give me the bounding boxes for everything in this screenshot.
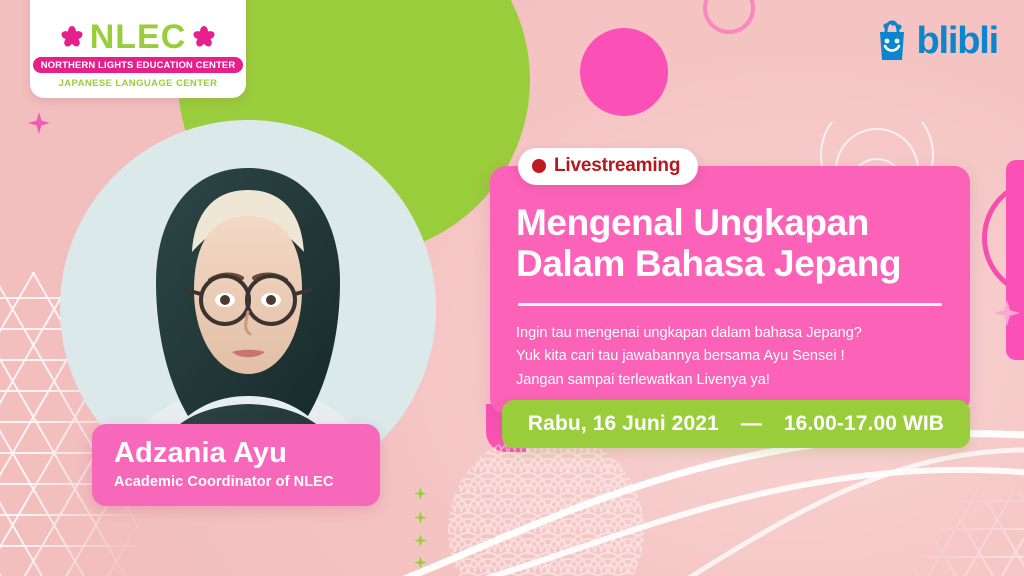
event-title: Mengenal Ungkapan Dalam Bahasa Jepang — [516, 202, 944, 285]
speaker-role: Academic Coordinator of NLEC — [114, 474, 358, 490]
asanoha-pattern-right — [904, 492, 1024, 576]
speaker-name: Adzania Ayu — [114, 438, 358, 468]
nlec-logo-card: NLEC NORTHERN LIGHTS EDUCATION CENTER JA… — [30, 0, 246, 98]
nlec-full-name-band: NORTHERN LIGHTS EDUCATION CENTER — [33, 57, 244, 73]
description-line-2: Yuk kita cari tau jawabannya bersama Ayu… — [516, 345, 944, 368]
nlec-subtitle: JAPANESE LANGUAGE CENTER — [59, 78, 218, 89]
event-title-line-2: Dalam Bahasa Jepang — [516, 243, 944, 284]
event-description: Ingin tau mengenai ungkapan dalam bahasa… — [516, 322, 944, 392]
speaker-name-card: Adzania Ayu Academic Coordinator of NLEC — [92, 424, 380, 506]
blibli-wordmark: blibli — [917, 22, 998, 60]
livestreaming-badge: Livestreaming — [518, 148, 698, 185]
sparkle-icon-left — [28, 112, 50, 134]
magenta-circle-decoration — [580, 28, 668, 116]
event-schedule-bar: Rabu, 16 Juni 2021 — 16.00-17.00 WIB — [502, 400, 970, 448]
live-record-dot-icon — [532, 159, 546, 173]
blibli-logo: blibli — [872, 20, 998, 62]
seigaiha-pattern-circle — [448, 432, 644, 576]
webinar-promo-banner: NLEC NORTHERN LIGHTS EDUCATION CENTER JA… — [0, 0, 1024, 576]
schedule-separator: — — [741, 412, 762, 436]
nlec-acronym: NLEC — [90, 20, 187, 54]
event-date: Rabu, 16 Juni 2021 — [528, 412, 719, 436]
event-info-panel: Livestreaming Mengenal Ungkapan Dalam Ba… — [490, 166, 970, 414]
title-divider — [518, 303, 942, 306]
sparkle-icon-col-2 — [414, 511, 427, 524]
sparkle-icon-right — [994, 300, 1020, 326]
magenta-edge-strip-decoration — [1006, 160, 1024, 360]
shopping-bag-icon — [872, 20, 912, 62]
description-line-1: Ingin tau mengenai ungkapan dalam bahasa… — [516, 322, 944, 345]
event-title-line-1: Mengenal Ungkapan — [516, 202, 944, 243]
cherry-blossom-icon-right — [193, 26, 215, 48]
pink-ring-outline-decoration — [703, 0, 755, 34]
event-time: 16.00-17.00 WIB — [784, 412, 944, 436]
livestreaming-label: Livestreaming — [554, 155, 680, 177]
sparkle-icon-col-3 — [414, 534, 427, 547]
description-line-3: Jangan sampai terlewatkan Livenya ya! — [516, 369, 944, 392]
magenta-ring-outline-decoration — [982, 178, 1024, 298]
sparkle-icon-col-4 — [414, 556, 427, 569]
cherry-blossom-icon-left — [61, 26, 83, 48]
